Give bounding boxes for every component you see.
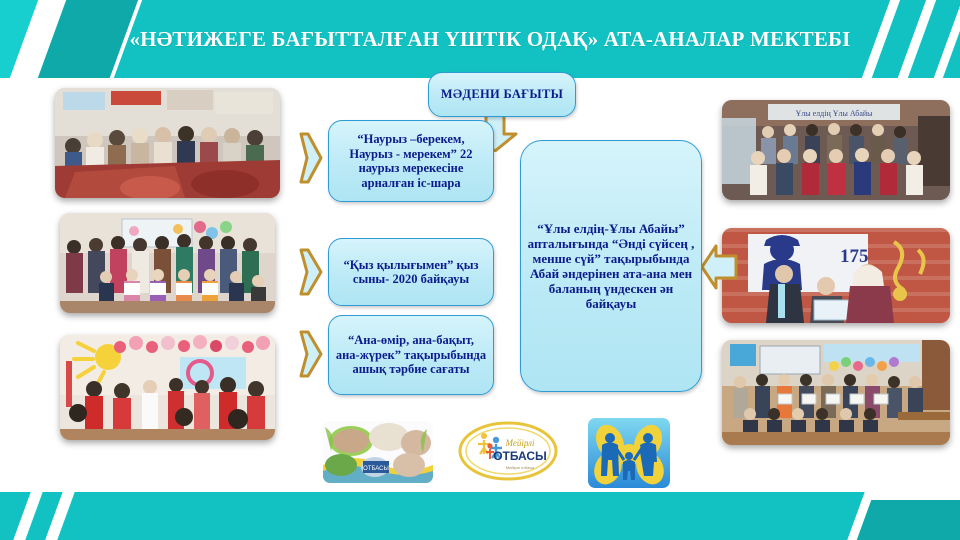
arrow-left-abai	[700, 244, 738, 290]
photo-right-3-image	[722, 340, 950, 445]
arrow-right-ana	[298, 330, 324, 378]
photo-right-1: Ұлы елдің Ұлы Абайы	[722, 100, 950, 200]
textbox-abai-song-contest[interactable]: “Ұлы елдің-Ұлы Абайы” апталығында “Әнді …	[520, 140, 702, 392]
photo-left-2-image	[60, 213, 275, 313]
photo-left-3-image	[60, 335, 275, 440]
photo-right-2: 175	[722, 228, 950, 323]
logo-family-collage: ОТБАСЫ	[323, 421, 433, 483]
svg-text:Мейірлі отбасы: Мейірлі отбасы	[506, 465, 535, 470]
logo-family-icon-image	[588, 418, 670, 488]
photo-right-1-image: Ұлы елдің Ұлы Абайы	[722, 100, 950, 200]
photo-left-2	[60, 213, 275, 313]
textbox-kyz-contest[interactable]: “Қыз қылығымен” қыз сыны- 2020 байқауы	[328, 238, 494, 306]
arrow-right-kyz	[298, 248, 324, 296]
svg-text:175: 175	[840, 246, 869, 267]
arrow-right-nauryz	[298, 132, 324, 184]
textbox-nauryz-event[interactable]: “Наурыз –берекем, Наурыз - мерекем” 22 н…	[328, 120, 494, 202]
textbox-culture-direction[interactable]: МӘДЕНИ БАҒЫТЫ	[428, 72, 576, 117]
bottom-banner	[0, 480, 960, 540]
photo-left-1	[55, 88, 280, 198]
svg-text:ОТБАСЫ: ОТБАСЫ	[363, 466, 389, 472]
svg-text:Ұлы елдің Ұлы Абайы: Ұлы елдің Ұлы Абайы	[795, 109, 873, 118]
photo-right-2-image: 175	[722, 228, 950, 323]
logo-family-collage-image: ОТБАСЫ	[323, 421, 433, 483]
page-title: «НӘТИЖЕГЕ БАҒЫТТАЛҒАН ҮШТІК ОДАҚ» АТА-АН…	[120, 4, 860, 74]
footer-main-shape	[57, 492, 864, 540]
logo-meirli-otbasy-image: Мейірлі ОТБАСЫ Мейірлі отбасы	[458, 420, 558, 486]
logo-meirli-otbasy: Мейірлі ОТБАСЫ Мейірлі отбасы	[458, 420, 558, 486]
footer-shape-right	[857, 500, 960, 540]
textbox-ana-lesson[interactable]: “Ана-өмір, ана-бақыт, ана-жүрек” тақырыб…	[328, 315, 494, 395]
slide-canvas: «НӘТИЖЕГЕ БАҒЫТТАЛҒАН ҮШТІК ОДАҚ» АТА-АН…	[0, 0, 960, 540]
photo-left-3	[60, 335, 275, 440]
photo-right-3	[722, 340, 950, 445]
photo-left-1-image	[55, 88, 280, 198]
logo-family-icon	[588, 418, 670, 488]
svg-text:Мейірлі: Мейірлі	[505, 438, 535, 448]
svg-text:ОТБАСЫ: ОТБАСЫ	[493, 449, 547, 463]
